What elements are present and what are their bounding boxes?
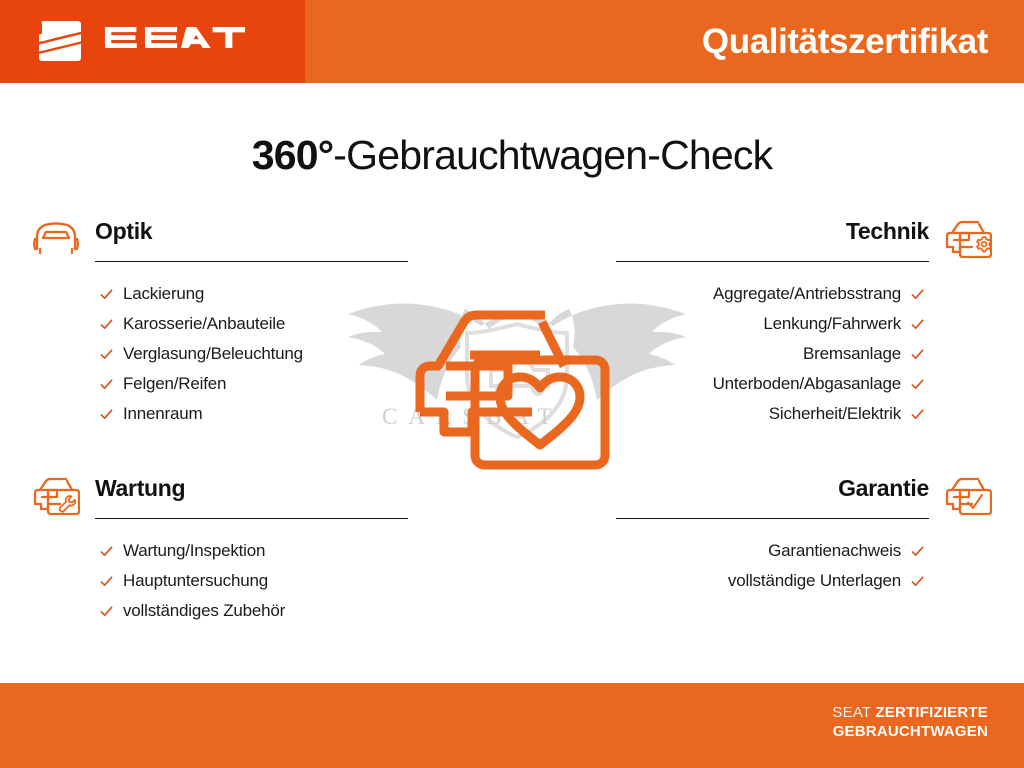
list-item: Lackierung	[32, 279, 410, 309]
list-item-label: Lackierung	[123, 279, 204, 309]
section-optik-divider	[95, 261, 408, 262]
list-item: Verglasung/Beleuchtung	[32, 339, 410, 369]
footer-gebrauchtwagen: GEBRAUCHTWAGEN	[832, 722, 988, 741]
list-item: Unterboden/Abgasanlage	[614, 369, 992, 399]
section-optik-list: Lackierung Karosserie/Anbauteile Verglas…	[32, 279, 410, 429]
page-title-degrees: 360°	[252, 132, 334, 178]
section-wartung-list: Wartung/Inspektion Hauptuntersuchung vol…	[32, 536, 410, 626]
section-wartung-title: Wartung	[95, 475, 185, 502]
check-icon	[911, 545, 924, 558]
check-icon	[911, 408, 924, 421]
page-title: 360°-Gebrauchtwagen-Check	[0, 132, 1024, 179]
list-item: Felgen/Reifen	[32, 369, 410, 399]
check-icon	[100, 575, 113, 588]
check-icon	[100, 408, 113, 421]
section-optik-title: Optik	[95, 218, 152, 245]
list-item: vollständige Unterlagen	[614, 566, 992, 596]
list-item: Aggregate/Antriebsstrang	[614, 279, 992, 309]
check-icon	[911, 318, 924, 331]
list-item-label: Verglasung/Beleuchtung	[123, 339, 303, 369]
section-wartung-divider	[95, 518, 408, 519]
section-optik-header: Optik	[32, 220, 410, 266]
section-garantie-header: Garantie	[614, 477, 992, 523]
check-icon	[100, 378, 113, 391]
check-icon	[100, 318, 113, 331]
section-optik: Optik Lackierung Karosserie/Anbauteile V…	[32, 220, 410, 429]
check-icon	[911, 378, 924, 391]
check-icon	[100, 348, 113, 361]
list-item-label: Felgen/Reifen	[123, 369, 226, 399]
section-garantie-list: Garantienachweis vollständige Unterlagen	[614, 536, 992, 596]
list-item: Karosserie/Anbauteile	[32, 309, 410, 339]
list-item-label: Bremsanlage	[803, 339, 901, 369]
car-check-icon	[944, 477, 992, 515]
section-technik-header: Technik	[614, 220, 992, 266]
certificate-page: Qualitätszertifikat 360°-Gebrauchtwagen-…	[0, 0, 1024, 768]
list-item: Innenraum	[32, 399, 410, 429]
list-item: Bremsanlage	[614, 339, 992, 369]
list-item-label: vollständiges Zubehör	[123, 596, 285, 626]
section-technik-list: Aggregate/Antriebsstrang Lenkung/Fahrwer…	[614, 279, 992, 429]
footer-tagline: SEAT ZERTIFIZIERTE GEBRAUCHTWAGEN	[832, 703, 988, 741]
check-icon	[100, 288, 113, 301]
footer-bar: SEAT ZERTIFIZIERTE GEBRAUCHTWAGEN	[0, 683, 1024, 768]
car-gear-icon	[944, 220, 992, 258]
section-garantie-divider	[616, 518, 929, 519]
check-icon	[911, 575, 924, 588]
footer-line-1: SEAT ZERTIFIZIERTE	[832, 703, 988, 722]
list-item-label: Garantienachweis	[768, 536, 901, 566]
list-item-label: Aggregate/Antriebsstrang	[713, 279, 901, 309]
section-technik: Technik Aggregate/Antriebsstrang Lenkung…	[614, 220, 992, 429]
check-icon	[100, 545, 113, 558]
list-item-label: vollständige Unterlagen	[728, 566, 901, 596]
list-item: Hauptuntersuchung	[32, 566, 410, 596]
list-item-label: Unterboden/Abgasanlage	[713, 369, 901, 399]
list-item: Garantienachweis	[614, 536, 992, 566]
check-icon	[911, 348, 924, 361]
footer-zertifizierte: ZERTIFIZIERTE	[875, 704, 988, 721]
certificate-title: Qualitätszertifikat	[0, 0, 1024, 83]
section-wartung-header: Wartung	[32, 477, 410, 523]
list-item-label: Lenkung/Fahrwerk	[763, 309, 901, 339]
footer-brand: SEAT	[832, 704, 871, 721]
car-wrench-icon	[32, 477, 80, 515]
list-item-label: Innenraum	[123, 399, 202, 429]
check-icon	[100, 605, 113, 618]
car-with-heart-icon	[410, 300, 620, 475]
car-front-icon	[32, 220, 80, 258]
section-technik-divider	[616, 261, 929, 262]
list-item-label: Hauptuntersuchung	[123, 566, 268, 596]
page-title-rest: -Gebrauchtwagen-Check	[333, 132, 772, 178]
list-item: vollständiges Zubehör	[32, 596, 410, 626]
list-item-label: Sicherheit/Elektrik	[769, 399, 901, 429]
section-technik-title: Technik	[846, 218, 929, 245]
list-item: Wartung/Inspektion	[32, 536, 410, 566]
section-wartung: Wartung Wartung/Inspektion Hauptuntersuc…	[32, 477, 410, 626]
check-icon	[911, 288, 924, 301]
section-garantie-title: Garantie	[838, 475, 929, 502]
header-bar: Qualitätszertifikat	[0, 0, 1024, 83]
list-item-label: Wartung/Inspektion	[123, 536, 265, 566]
list-item: Sicherheit/Elektrik	[614, 399, 992, 429]
section-garantie: Garantie Garantienachweis vollständige U…	[614, 477, 992, 596]
list-item: Lenkung/Fahrwerk	[614, 309, 992, 339]
list-item-label: Karosserie/Anbauteile	[123, 309, 285, 339]
